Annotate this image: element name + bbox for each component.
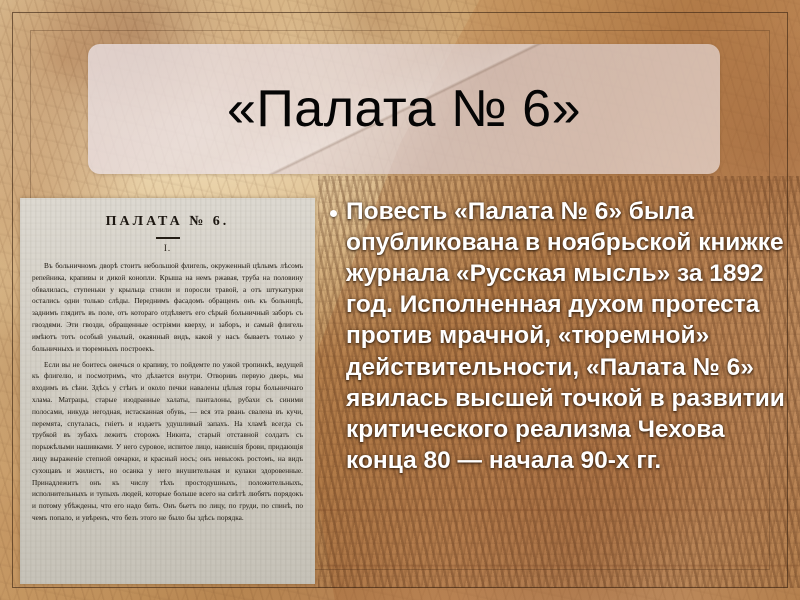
bullet-list: Повесть «Палата № 6» была опубликована в… xyxy=(330,196,792,476)
page-title: «Палата № 6» xyxy=(88,44,720,174)
scan-chapter-numeral: I. xyxy=(32,243,303,253)
scan-paragraph: Если вы не боитесь ожечься о крапиву, то… xyxy=(32,359,303,524)
scan-heading: ПАЛАТА № 6. xyxy=(32,214,303,230)
scan-divider xyxy=(156,237,180,239)
scan-paragraph: Въ больничномъ дворѣ стоитъ небольшой фл… xyxy=(32,260,303,355)
scan-content: ПАЛАТА № 6. I. Въ больничномъ дворѣ стои… xyxy=(20,198,315,524)
bullet-dot-icon xyxy=(330,210,337,217)
slide-root: «Палата № 6» ПАЛАТА № 6. I. Въ больнично… xyxy=(0,0,800,600)
body-paragraph: Повесть «Палата № 6» была опубликована в… xyxy=(346,196,792,476)
title-panel: «Палата № 6» xyxy=(88,44,720,174)
scanned-book-page: ПАЛАТА № 6. I. Въ больничномъ дворѣ стои… xyxy=(20,198,315,584)
